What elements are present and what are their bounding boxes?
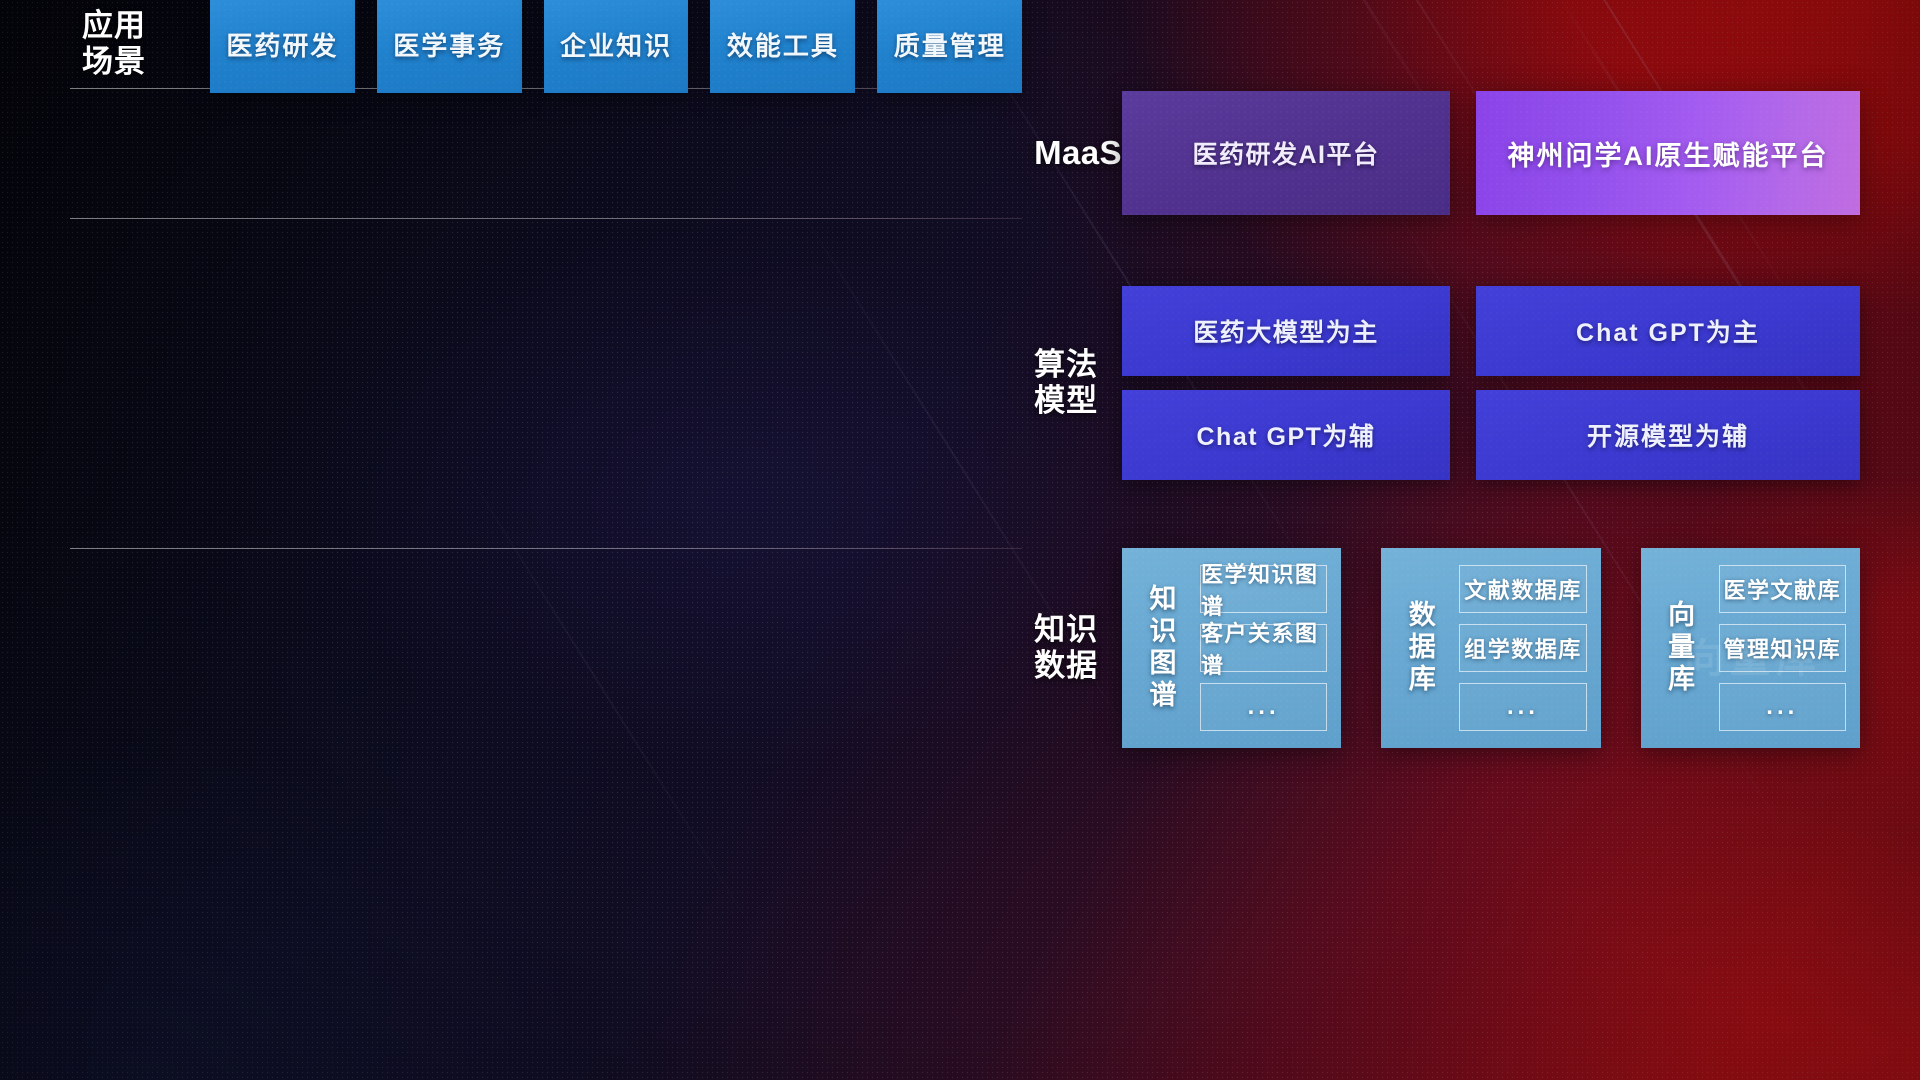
maas-card-pharma-ai-platform[interactable]: 医药研发AI平台 [1122,91,1450,215]
row-body-knowledge: 知识图谱 医学知识图谱 客户关系图谱 ... 数据库 文献数据库 组学数据库 .… [1122,548,1860,748]
algorithm-row-secondary: Chat GPT为辅 开源模型为辅 [1122,390,1860,480]
row-label-application: 应用 场景 [70,0,210,88]
knowledge-item-literature-db[interactable]: 文献数据库 [1459,565,1586,613]
app-card-enterprise-knowledge[interactable]: 企业知识 [544,0,689,93]
knowledge-panel-vector-label: 向量库 [1659,600,1705,696]
app-card-efficiency-tools[interactable]: 效能工具 [710,0,855,93]
app-card-medical-affairs[interactable]: 医学事务 [377,0,522,93]
knowledge-item-database-more[interactable]: ... [1459,683,1586,731]
row-label-knowledge: 知识 数据 [1022,548,1122,748]
knowledge-item-vector-more[interactable]: ... [1719,683,1846,731]
row-label-maas-line1: MaaS [1034,134,1122,172]
row-body-maas: 医药研发AI平台 神州问学AI原生赋能平台 [1122,88,1860,218]
knowledge-item-medical-graph[interactable]: 医学知识图谱 [1200,565,1327,613]
divider-after-algorithm [70,548,1022,549]
knowledge-panel-vector-items: 医学文献库 管理知识库 ... [1719,565,1846,731]
knowledge-item-medical-literature[interactable]: 医学文献库 [1719,565,1846,613]
knowledge-item-omics-db[interactable]: 组学数据库 [1459,624,1586,672]
row-label-algorithm-line2: 模型 [1034,383,1098,419]
row-body-algorithm: 医药大模型为主 Chat GPT为主 Chat GPT为辅 开源模型为辅 [1122,218,1860,548]
row-label-algorithm-line1: 算法 [1034,347,1098,383]
knowledge-item-customer-graph[interactable]: 客户关系图谱 [1200,624,1327,672]
knowledge-panel-database-label: 数据库 [1399,600,1445,696]
architecture-diagram: 应用 场景 医药研发 医学事务 企业知识 效能工具 质量管理 MaaS 医药研发… [0,0,1920,1080]
row-label-application-line1: 应用 [82,8,146,44]
maas-card-list: 医药研发AI平台 神州问学AI原生赋能平台 [1122,91,1860,215]
row-label-knowledge-line1: 知识 [1034,612,1098,648]
knowledge-panel-vector: 向量库 向量库 医学文献库 管理知识库 ... [1641,548,1860,748]
algo-card-opensource-secondary[interactable]: 开源模型为辅 [1476,390,1860,480]
algo-card-chatgpt-primary[interactable]: Chat GPT为主 [1476,286,1860,376]
knowledge-panel-graph-items: 医学知识图谱 客户关系图谱 ... [1200,565,1327,731]
knowledge-panel-database: 数据库 文献数据库 组学数据库 ... [1381,548,1600,748]
row-label-knowledge-line2: 数据 [1034,648,1098,684]
knowledge-item-management-kb[interactable]: 管理知识库 [1719,624,1846,672]
knowledge-panel-graph: 知识图谱 医学知识图谱 客户关系图谱 ... [1122,548,1341,748]
algorithm-card-grid: 医药大模型为主 Chat GPT为主 Chat GPT为辅 开源模型为辅 [1122,286,1860,480]
algo-card-pharma-llm-primary[interactable]: 医药大模型为主 [1122,286,1450,376]
app-card-quality-management[interactable]: 质量管理 [877,0,1022,93]
app-card-medicine-rd[interactable]: 医药研发 [210,0,355,93]
row-body-application: 医药研发 医学事务 企业知识 效能工具 质量管理 [210,0,1022,88]
application-card-list: 医药研发 医学事务 企业知识 效能工具 质量管理 [210,0,1022,93]
knowledge-item-graph-more[interactable]: ... [1200,683,1327,731]
algorithm-row-primary: 医药大模型为主 Chat GPT为主 [1122,286,1860,376]
algo-card-chatgpt-secondary[interactable]: Chat GPT为辅 [1122,390,1450,480]
row-label-algorithm: 算法 模型 [1022,218,1122,548]
maas-card-shenzhou-wenxue-platform[interactable]: 神州问学AI原生赋能平台 [1476,91,1860,215]
knowledge-panel-graph-label: 知识图谱 [1140,584,1186,711]
row-label-maas: MaaS [1022,88,1122,218]
knowledge-panel-database-items: 文献数据库 组学数据库 ... [1459,565,1586,731]
row-label-application-line2: 场景 [82,44,146,80]
knowledge-panel-list: 知识图谱 医学知识图谱 客户关系图谱 ... 数据库 文献数据库 组学数据库 .… [1122,548,1860,748]
divider-after-maas [70,218,1022,219]
